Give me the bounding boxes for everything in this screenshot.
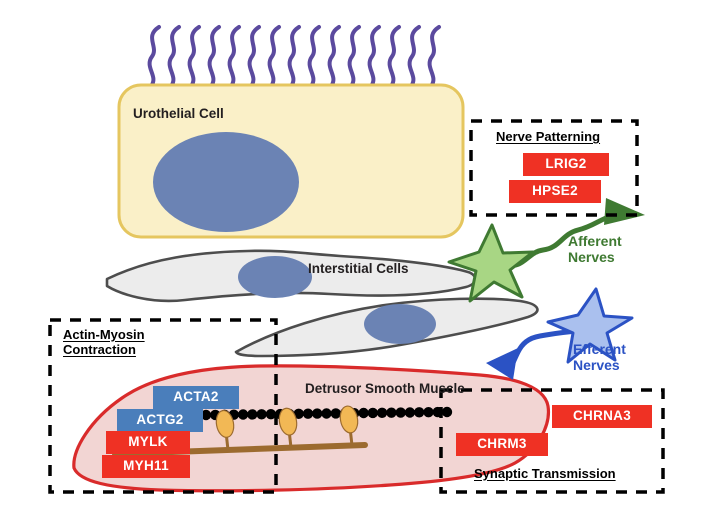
gene-badge-myh11[interactable]: MYH11 <box>102 455 190 478</box>
gene-badge-hpse2[interactable]: HPSE2 <box>509 180 601 203</box>
actin-myosin-title: Actin-Myosin Contraction <box>63 328 145 358</box>
actin-bead <box>331 408 341 418</box>
detrusor-smooth-muscle-label: Detrusor Smooth Muscle <box>305 381 465 397</box>
efferent-nerves-label: Efferent Nerves <box>573 341 626 373</box>
interstitial-cell-lower-nucleus <box>364 304 436 344</box>
actin-bead <box>303 409 313 419</box>
cilium-strand <box>230 27 239 86</box>
afferent-nerve-terminal-star <box>449 225 533 301</box>
cilium-strand <box>290 27 299 86</box>
cilium-strand <box>330 27 339 86</box>
actin-bead <box>377 408 387 418</box>
urothelial-cell-label: Urothelial Cell <box>133 106 224 122</box>
efferent-nerves-label-line1: Efferent <box>573 341 626 357</box>
cilium-strand <box>430 27 439 86</box>
afferent-nerves-label-line1: Afferent <box>568 233 622 249</box>
actin-bead <box>405 407 415 417</box>
cilium-strand <box>210 27 219 86</box>
gene-badge-chrna3[interactable]: CHRNA3 <box>552 405 652 428</box>
cilium-strand <box>250 27 259 86</box>
cilium-strand <box>150 27 159 86</box>
efferent-nerve-fiber <box>508 331 578 372</box>
actin-bead <box>247 409 257 419</box>
gene-badge-acta2[interactable]: ACTA2 <box>153 386 239 409</box>
cilium-strand <box>390 27 399 86</box>
cilium-strand <box>350 27 359 86</box>
urothelial-cell-nucleus <box>153 132 299 232</box>
gene-badge-mylk[interactable]: MYLK <box>106 431 190 454</box>
actin-bead <box>358 408 368 418</box>
interstitial-cells-label: Interstitial Cells <box>308 261 409 277</box>
actin-bead <box>386 408 396 418</box>
actin-bead <box>442 407 452 417</box>
efferent-nerves-label-line2: Nerves <box>573 357 626 373</box>
cilium-strand <box>410 27 419 86</box>
cilium-strand <box>170 27 179 86</box>
synaptic-transmission-title: Synaptic Transmission <box>474 467 616 482</box>
actin-myosin-title-line2: Contraction <box>63 343 145 358</box>
diagram-canvas: Urothelial Cell Interstitial Cells Detru… <box>0 0 706 528</box>
actin-bead <box>414 407 424 417</box>
afferent-nerves-label: Afferent Nerves <box>568 233 622 265</box>
actin-bead <box>368 408 378 418</box>
cilium-strand <box>370 27 379 86</box>
gene-badge-lrig2[interactable]: LRIG2 <box>523 153 609 176</box>
cilium-strand <box>310 27 319 86</box>
actin-bead <box>312 408 322 418</box>
actin-bead <box>238 409 248 419</box>
cilium-strand <box>190 27 199 86</box>
actin-myosin-title-line1: Actin-Myosin <box>63 328 145 343</box>
actin-bead <box>256 409 266 419</box>
nerve-patterning-title: Nerve Patterning <box>496 130 600 145</box>
afferent-nerves-label-line2: Nerves <box>568 249 622 265</box>
interstitial-cell-upper-nucleus <box>238 256 312 298</box>
gene-badge-actg2[interactable]: ACTG2 <box>117 409 203 432</box>
cilia-group <box>150 27 439 86</box>
cilium-strand <box>270 27 279 86</box>
actin-bead <box>321 408 331 418</box>
actin-bead <box>396 407 406 417</box>
gene-badge-chrm3[interactable]: CHRM3 <box>456 433 548 456</box>
afferent-nerve-arrowhead <box>604 198 645 225</box>
actin-bead <box>423 407 433 417</box>
